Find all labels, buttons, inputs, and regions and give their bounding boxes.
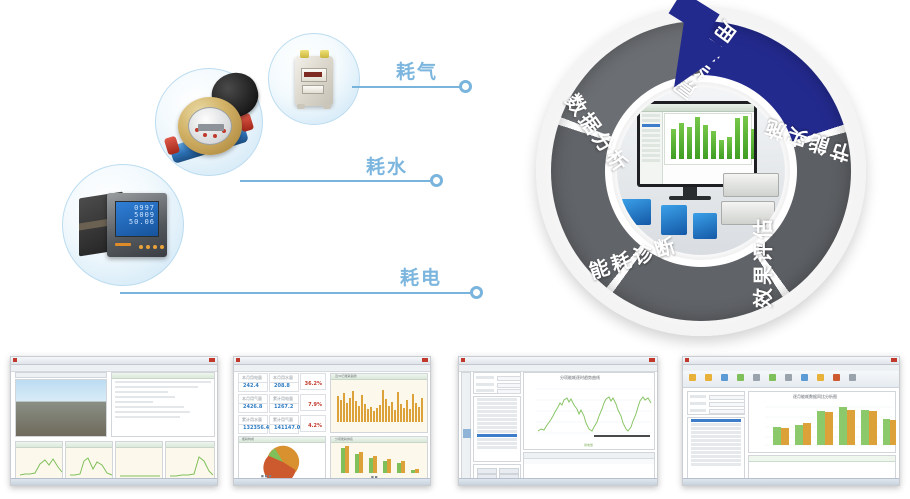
chart-icon[interactable] <box>737 374 744 381</box>
kpi-value: 208.8 <box>274 383 290 389</box>
kpi-value: 141147.0 <box>274 425 300 431</box>
print-icon[interactable] <box>785 374 792 381</box>
segment-label-2[interactable]: 效果评估 <box>747 216 776 308</box>
query-form[interactable] <box>473 372 521 394</box>
mini-chart-subitem <box>165 441 215 479</box>
screenshot-hourly-curve[interactable]: 分项能耗逐时趋势曲线 用电量 <box>458 356 658 486</box>
gas-meter-icon <box>269 34 359 124</box>
filter-form[interactable] <box>687 391 745 415</box>
mini-chart-power <box>65 441 113 479</box>
screenshot-energy-dashboard[interactable]: 本月用电量 本月用水量 36.2% 242.4 208.8 本月用气量 累计用电… <box>233 356 431 486</box>
building-photo <box>15 379 107 437</box>
water-label: 耗水 <box>366 152 408 179</box>
power-connector-line <box>120 292 475 294</box>
mini-chart-gas <box>115 441 163 479</box>
kpi-label: 累计用气量 <box>273 417 293 423</box>
chart-title: 分项能耗逐时趋势曲线 <box>560 375 600 381</box>
building-photo-toolbar[interactable] <box>15 372 107 378</box>
save-icon[interactable] <box>721 374 728 381</box>
gas-connector-line <box>352 86 464 88</box>
em-line-3: 50.06 <box>116 219 158 226</box>
kpi-label: 本月用气量 <box>242 396 262 402</box>
data-table[interactable] <box>523 452 655 479</box>
meter-device-icon <box>693 213 717 239</box>
power-label: 耗电 <box>400 263 442 290</box>
new-icon[interactable] <box>689 374 696 381</box>
screenshot-building-overview[interactable] <box>10 356 218 486</box>
table-icon[interactable] <box>753 374 760 381</box>
yoy-bar-chart: 逐月能耗数据同比分析图 <box>748 391 896 453</box>
ranking-bar-chart: 分项能耗排名 ■ ■ <box>330 436 428 481</box>
infographic-canvas: 0997 5009 50.06 耗气 耗水 耗电 <box>0 0 910 499</box>
din-rail-device-icon <box>723 173 779 197</box>
water-meter-icon <box>156 69 262 175</box>
result-table[interactable] <box>748 455 896 479</box>
kpi-value-card: 242.4 <box>238 382 268 392</box>
energy-management-cycle: 用能监测 节能实施 效果评估 能耗诊断 数据分析 <box>536 6 866 336</box>
mini-chart-water <box>15 441 63 479</box>
kpi-label: 本月用水量 <box>273 375 293 381</box>
electric-meter-bubble[interactable]: 0997 5009 50.06 <box>62 164 184 286</box>
kpi-delta: 36.2% <box>305 381 322 387</box>
gas-meter-bubble[interactable] <box>268 33 360 125</box>
kpi-label: 累计用水量 <box>242 417 262 423</box>
kpi-value: 1267.2 <box>274 404 293 410</box>
kpi-card: 4.2% <box>300 415 326 432</box>
power-connector-dot[interactable] <box>470 286 483 299</box>
kpi-value: 2426.8 <box>243 404 262 410</box>
left-rail <box>461 372 471 479</box>
series-legend: 用电量 <box>584 443 593 447</box>
kpi-value-card: 2426.8 <box>238 403 268 413</box>
yoy-chart-title: 逐月能耗数据同比分析图 <box>793 394 837 400</box>
trend-bar-chart: 近30日能耗趋势 <box>330 373 428 433</box>
category-tree[interactable] <box>687 417 745 479</box>
trend-bar-chart-title: 近30日能耗趋势 <box>335 374 357 378</box>
gas-connector-dot[interactable] <box>459 80 472 93</box>
kpi-value-card: 141147.0 <box>269 424 299 434</box>
refresh-icon[interactable] <box>801 374 808 381</box>
kpi-delta: 4.2% <box>308 423 322 429</box>
kpi-value-card: 208.8 <box>269 382 299 392</box>
exit-icon[interactable] <box>849 374 856 381</box>
kpi-value-card: 132356.4 <box>238 424 268 434</box>
rank-title: 分项能耗排名 <box>335 437 353 441</box>
hourly-line-chart: 分项能耗逐时趋势曲线 用电量 <box>523 372 655 450</box>
highlight-arrow-icon <box>632 0 752 130</box>
kpi-value: 132356.4 <box>243 425 269 431</box>
meter-device-icon <box>621 199 651 225</box>
open-icon[interactable] <box>705 374 712 381</box>
help-icon[interactable] <box>833 374 840 381</box>
water-connector-dot[interactable] <box>430 174 443 187</box>
project-info-panel <box>111 372 215 437</box>
kpi-value: 242.4 <box>243 383 259 389</box>
water-meter-bubble[interactable] <box>155 68 263 176</box>
device-tree[interactable] <box>473 396 521 462</box>
kpi-label: 累计用电量 <box>273 396 293 402</box>
kpi-card: 36.2% <box>300 373 326 390</box>
export-icon[interactable] <box>769 374 776 381</box>
composition-pie-chart: 能耗构成 ■ ■ ■ <box>238 436 326 481</box>
settings-icon[interactable] <box>817 374 824 381</box>
kpi-card: 7.9% <box>300 394 326 411</box>
kpi-value-card: 1267.2 <box>269 403 299 413</box>
gas-label: 耗气 <box>396 57 438 84</box>
pie-title: 能耗构成 <box>242 437 254 441</box>
query-buttons[interactable] <box>473 464 521 479</box>
water-connector-line <box>240 180 435 182</box>
icon-toolbar[interactable] <box>683 371 899 388</box>
kpi-delta: 7.9% <box>308 402 322 408</box>
kpi-label: 本月用电量 <box>242 375 262 381</box>
screenshot-yoy-comparison[interactable]: 逐月能耗数据同比分析图 <box>682 356 900 486</box>
electric-meter-icon: 0997 5009 50.06 <box>63 165 183 285</box>
